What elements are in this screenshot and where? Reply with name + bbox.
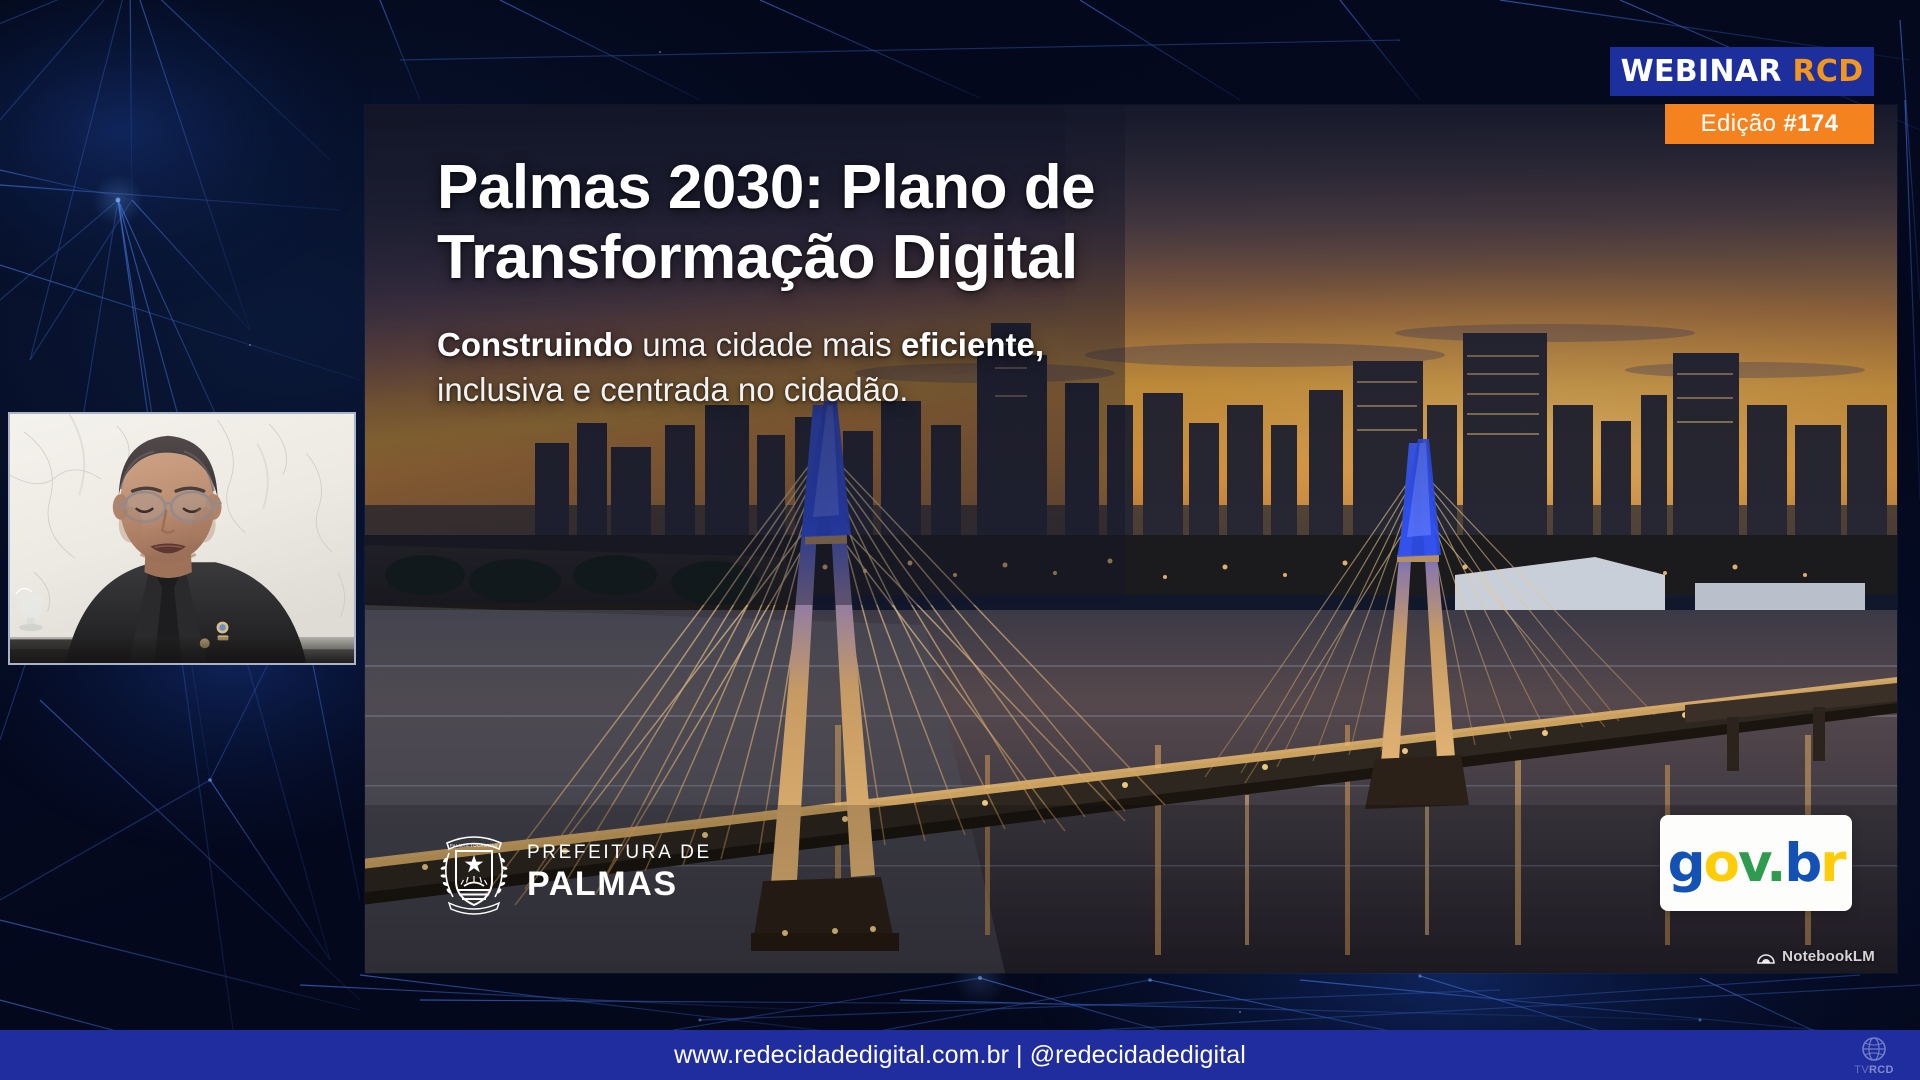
svg-text:PALMAS TOCANTINS: PALMAS TOCANTINS [450,843,498,848]
prefeitura-palmas-logo: PALMAS TOCANTINS [437,829,712,915]
footer-handle: @redecidadedigital [1030,1041,1246,1069]
slide-title-line-2: Transformação Digital [437,223,1487,293]
slide-title-line-1: Palmas 2030: Plano de [437,153,1487,223]
notebooklm-label: NotebookLM [1782,948,1875,965]
slide-subtitle-mid-1: uma cidade mais [633,326,901,363]
notebooklm-arc-icon [1757,950,1775,964]
palmas-logo-line-1: PREFEITURA DE [527,843,712,862]
webcam-bottom-shade [10,637,354,663]
govbr-logo: gov.br [1660,815,1852,911]
footer-website: www.redecidadedigital.com.br [674,1041,1009,1069]
webinar-rcd-badge: WEBINAR RCD [1610,47,1874,96]
footer-separator: | [1009,1041,1030,1069]
slide-subtitle-line-2: inclusiva e centrada no cidadão. [437,368,1487,413]
tv-rcd-watermark: TVRCD [1842,1018,1906,1076]
slide-subtitle-bold-2: eficiente, [901,326,1044,363]
edition-label: Edição [1701,110,1784,137]
stream-stage: Palmas 2030: Plano de Transformação Digi… [0,0,1920,1080]
speaker-webcam-tile[interactable] [8,412,356,665]
tv-label: TV [1854,1064,1869,1076]
slide-text-block: Palmas 2030: Plano de Transformação Digi… [437,153,1487,412]
slide-subtitle-line-1: Construindo uma cidade mais eficiente, [437,323,1487,368]
palmas-coat-of-arms-icon: PALMAS TOCANTINS [437,829,511,915]
shared-slide[interactable]: Palmas 2030: Plano de Transformação Digi… [365,105,1897,973]
slide-title: Palmas 2030: Plano de Transformação Digi… [437,153,1487,293]
globe-icon [1861,1036,1887,1062]
webcam-video-frame [10,414,354,664]
webinar-badge-rcd: RCD [1792,54,1863,89]
govbr-o: o [1704,833,1738,894]
govbr-g: g [1668,833,1704,894]
footer-bar: www.redecidadedigital.com.br | @redecida… [0,1030,1920,1080]
notebooklm-watermark: NotebookLM [1757,948,1875,965]
edition-number: #174 [1783,110,1838,137]
slide-subtitle-bold-1: Construindo [437,326,633,363]
palmas-logo-line-2: PALMAS [527,867,712,901]
rcd-label: RCD [1869,1064,1894,1076]
govbr-v: v [1738,833,1766,894]
edition-badge: Edição #174 [1665,104,1874,144]
webinar-badge-word: WEBINAR [1621,54,1782,89]
govbr-dot: . [1766,833,1784,894]
govbr-r: r [1820,833,1844,894]
govbr-b: b [1784,833,1820,894]
slide-subtitle: Construindo uma cidade mais eficiente, i… [437,323,1487,412]
